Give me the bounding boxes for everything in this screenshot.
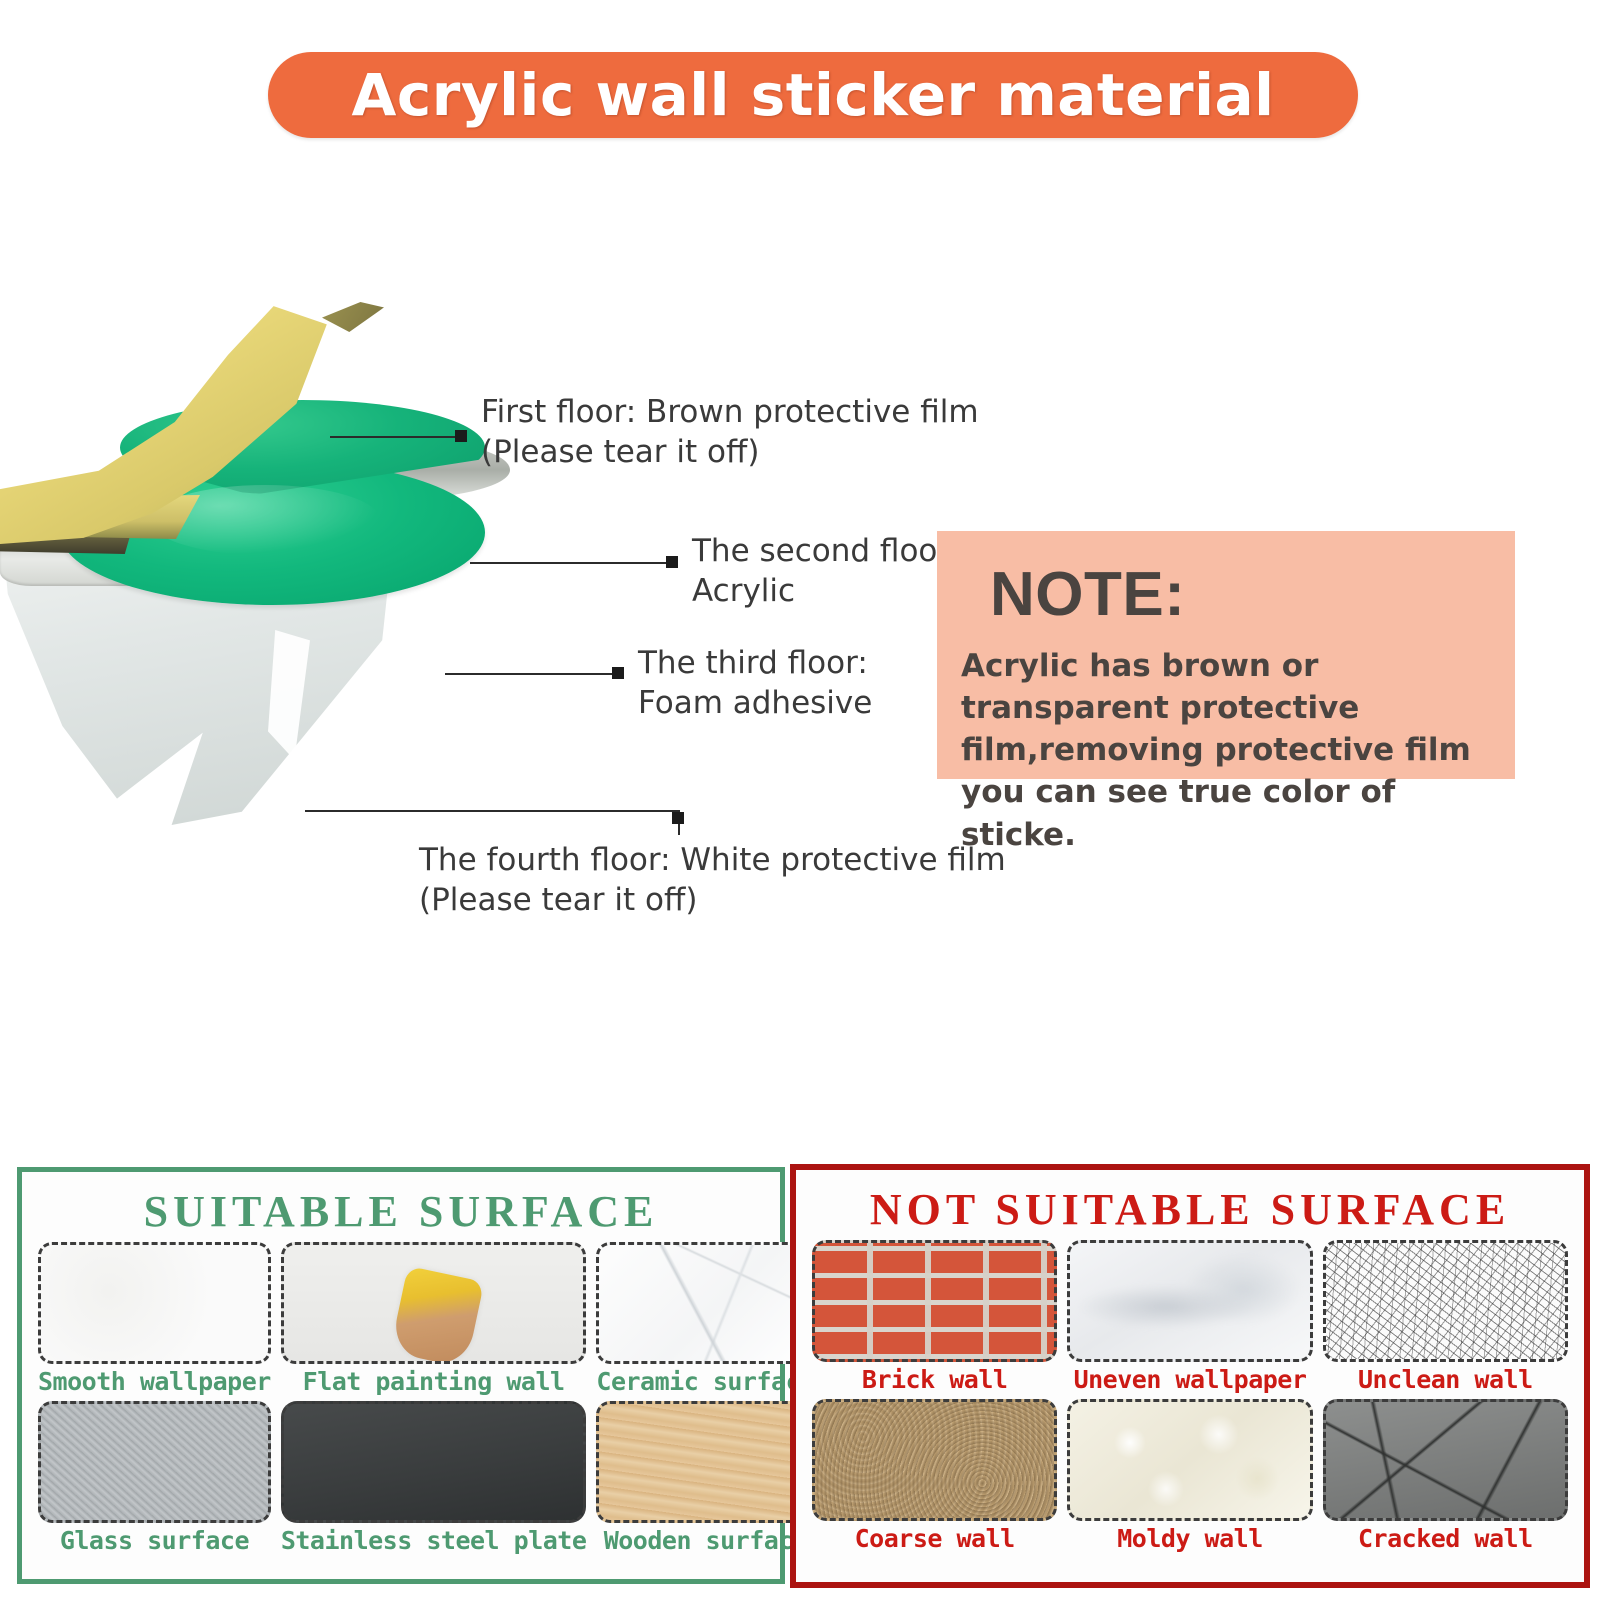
suitable-surface-cell: Wooden surface	[596, 1401, 814, 1558]
not-suitable-surface-panel: NOT SUITABLE SURFACE Brick wallUneven wa…	[790, 1164, 1590, 1588]
not-suitable-surface-caption: Brick wall	[862, 1365, 1008, 1394]
callout-third-floor: The third floor: Foam adhesive	[638, 643, 872, 724]
not-suitable-surface-swatch	[1323, 1399, 1568, 1521]
suitable-surface-swatch	[281, 1242, 587, 1364]
suitable-surface-caption: Flat painting wall	[303, 1367, 565, 1396]
callout-fourth-floor-line1: The fourth floor: White protective film	[419, 840, 1006, 880]
suitable-surface-heading: SUITABLE SURFACE	[22, 1186, 780, 1237]
not-suitable-surface-cell: Moldy wall	[1067, 1399, 1312, 1556]
suitable-surface-swatch	[596, 1401, 814, 1523]
not-suitable-surface-cell: Coarse wall	[812, 1399, 1057, 1556]
suitable-surface-cell: Smooth wallpaper	[38, 1242, 271, 1399]
leader-dot-third-floor	[612, 667, 624, 679]
suitable-surface-swatch	[38, 1242, 271, 1364]
not-suitable-surface-heading: NOT SUITABLE SURFACE	[796, 1184, 1584, 1235]
not-suitable-surface-cell: Cracked wall	[1323, 1399, 1568, 1556]
not-suitable-surface-caption: Coarse wall	[855, 1524, 1015, 1553]
callout-fourth-floor-line2: (Please tear it off)	[419, 880, 1006, 920]
suitable-surface-grid: Smooth wallpaperFlat painting wallCerami…	[22, 1242, 780, 1558]
not-suitable-surface-swatch	[1067, 1399, 1312, 1521]
not-suitable-surface-caption: Unclean wall	[1358, 1365, 1533, 1394]
not-suitable-surface-swatch	[812, 1399, 1057, 1521]
callout-first-floor-line1: First floor: Brown protective film	[481, 392, 979, 432]
not-suitable-surface-caption: Moldy wall	[1117, 1524, 1263, 1553]
suitable-surface-swatch	[281, 1401, 587, 1523]
callout-second-floor: The second floor: Acrylic	[692, 531, 960, 612]
suitable-surface-cell: Ceramic surface	[596, 1242, 814, 1399]
leader-line-third-floor	[445, 673, 612, 675]
suitable-surface-caption: Glass surface	[60, 1526, 249, 1555]
header-banner: Acrylic wall sticker material	[268, 52, 1358, 138]
not-suitable-surface-swatch	[1323, 1240, 1568, 1362]
suitable-surface-panel: SUITABLE SURFACE Smooth wallpaperFlat pa…	[17, 1167, 785, 1584]
suitable-surface-cell: Stainless steel plate	[281, 1401, 587, 1558]
suitable-surface-caption: Smooth wallpaper	[38, 1367, 271, 1396]
callout-second-floor-line1: The second floor:	[692, 531, 960, 571]
callout-second-floor-line2: Acrylic	[692, 571, 960, 611]
not-suitable-surface-grid: Brick wallUneven wallpaperUnclean wallCo…	[796, 1240, 1584, 1556]
note-body: Acrylic has brown or transparent protect…	[961, 645, 1509, 856]
suitable-surface-swatch	[596, 1242, 814, 1364]
callout-third-floor-line2: Foam adhesive	[638, 683, 872, 723]
suitable-surface-caption: Wooden surface	[604, 1526, 808, 1555]
not-suitable-surface-cell: Uneven wallpaper	[1067, 1240, 1312, 1397]
leader-dot-second-floor	[666, 556, 678, 568]
callout-first-floor: First floor: Brown protective film (Plea…	[481, 392, 979, 473]
note-heading: NOTE:	[990, 559, 1185, 630]
suitable-surface-swatch	[38, 1401, 271, 1523]
leader-dot-fourth-floor	[672, 812, 684, 824]
suitable-surface-cell: Glass surface	[38, 1401, 271, 1558]
note-box: NOTE: Acrylic has brown or transparent p…	[937, 531, 1515, 779]
page-title: Acrylic wall sticker material	[352, 61, 1275, 129]
leader-line-second-floor	[470, 562, 666, 564]
product-cross-section-image	[0, 300, 520, 920]
not-suitable-surface-swatch	[1067, 1240, 1312, 1362]
suitable-surface-cell: Flat painting wall	[281, 1242, 587, 1399]
leader-dot-first-floor	[455, 430, 467, 442]
not-suitable-surface-cell: Brick wall	[812, 1240, 1057, 1397]
callout-fourth-floor: The fourth floor: White protective film …	[419, 840, 1006, 921]
leader-line-fourth-floor	[305, 810, 680, 812]
not-suitable-surface-caption: Cracked wall	[1358, 1524, 1533, 1553]
callout-first-floor-line2: (Please tear it off)	[481, 432, 979, 472]
callout-third-floor-line1: The third floor:	[638, 643, 872, 683]
not-suitable-surface-cell: Unclean wall	[1323, 1240, 1568, 1397]
not-suitable-surface-caption: Uneven wallpaper	[1074, 1365, 1307, 1394]
not-suitable-surface-swatch	[812, 1240, 1057, 1362]
suitable-surface-caption: Ceramic surface	[596, 1367, 814, 1396]
brown-film-curled-tip	[322, 302, 384, 332]
suitable-surface-caption: Stainless steel plate	[281, 1526, 587, 1555]
leader-line-first-floor	[330, 436, 455, 438]
